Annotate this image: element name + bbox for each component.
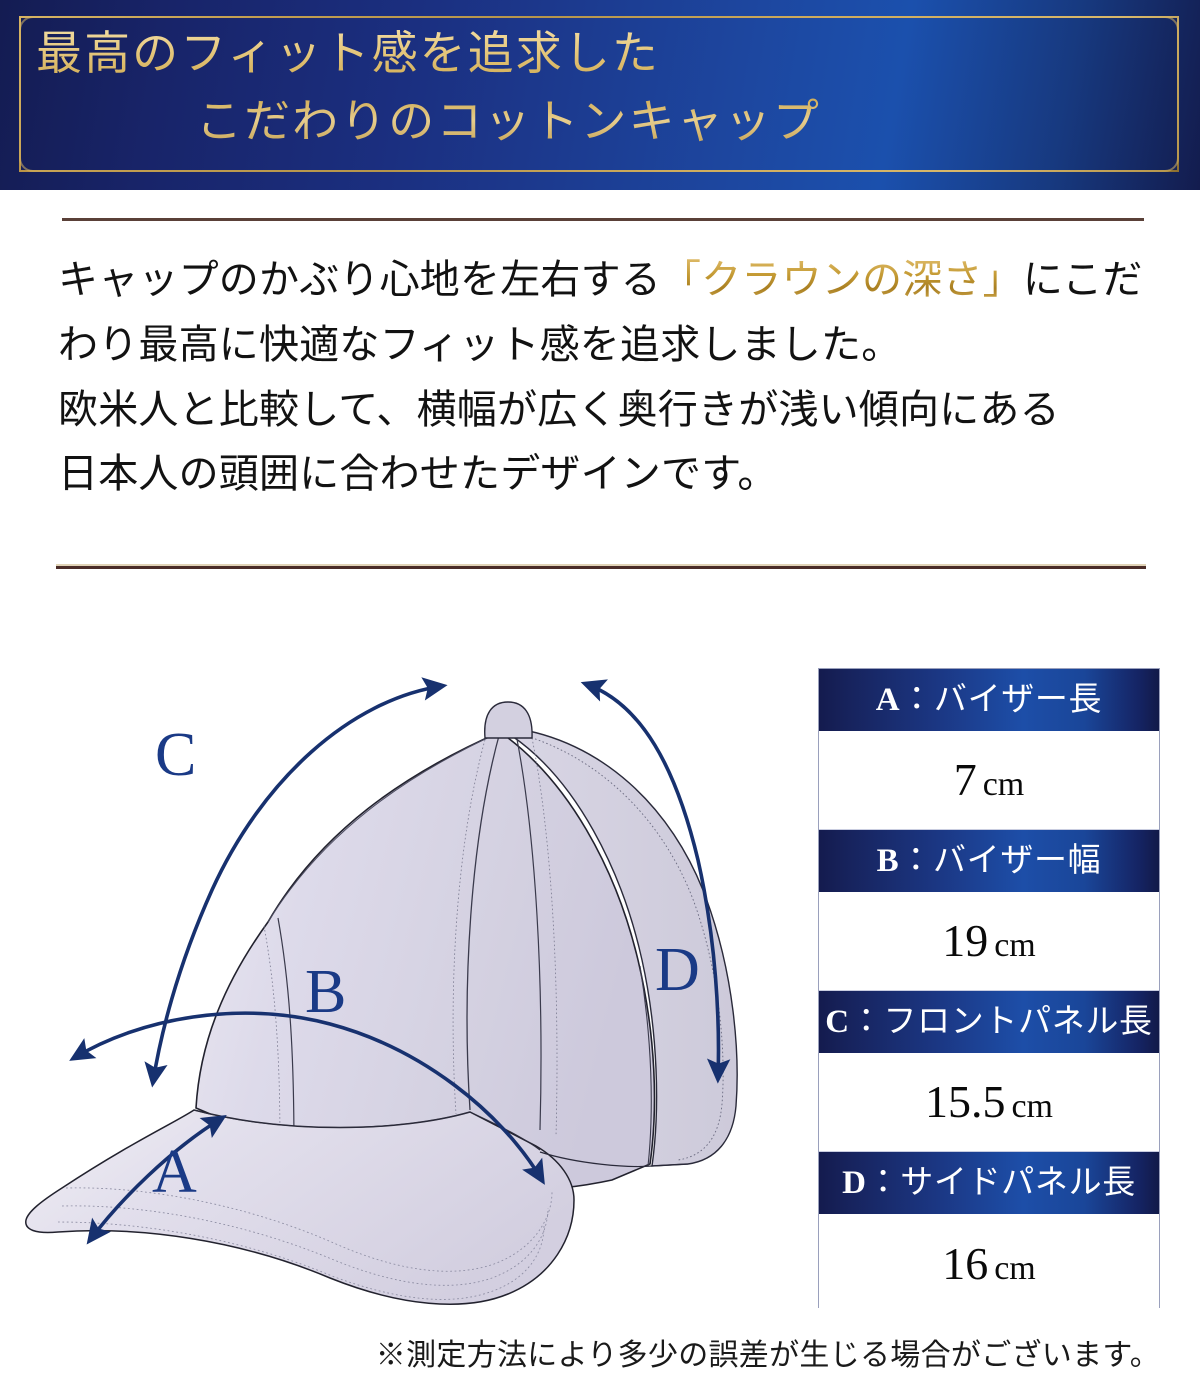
measurement-name-c: フロントパネル長 <box>883 1004 1152 1040</box>
measurement-value-b: 19cm <box>819 892 1159 991</box>
measurement-unit-a: cm <box>983 766 1025 803</box>
measurement-header-d: D：サイドパネル長 <box>819 1152 1159 1214</box>
diagram-label-b: B <box>305 958 346 1026</box>
measurement-name-a: バイザー長 <box>934 682 1102 718</box>
description-highlight: 「クラウンの深さ」 <box>661 257 1023 302</box>
measurement-header-c: C：フロントパネル長 <box>819 991 1159 1053</box>
measurement-unit-c: cm <box>1011 1088 1053 1125</box>
header-banner: 最高のフィット感を追求したこだわりのコットンキャップ <box>0 0 1200 190</box>
description-text: キャップのかぶり心地を左右する「クラウンの深さ」にこだわり最高に快適なフィット感… <box>58 248 1148 507</box>
measurement-key-a: A <box>876 682 901 718</box>
measurement-key-c: C <box>825 1004 850 1040</box>
banner-title-line1: 最高のフィット感を追求した <box>36 28 660 79</box>
measurement-value-d: 16cm <box>819 1214 1159 1313</box>
measurement-key-b: B <box>877 843 900 879</box>
cap-diagram: C B D A <box>0 640 820 1330</box>
measurement-table: A：バイザー長 7cm B：バイザー幅 19cm C：フロントパネル長 15.5… <box>818 668 1160 1308</box>
measurement-number-d: 16 <box>942 1238 988 1289</box>
footnote: ※測定方法により多少の誤差が生じる場合がございます。 <box>0 1330 1160 1374</box>
measurement-header-a: A：バイザー長 <box>819 669 1159 731</box>
measurement-name-b: バイザー幅 <box>933 843 1101 879</box>
measurement-number-c: 15.5 <box>925 1076 1006 1127</box>
measurement-value-c: 15.5cm <box>819 1053 1159 1152</box>
banner-title-line2: こだわりのコットンキャップ <box>36 88 1160 156</box>
diagram-label-d: D <box>655 936 700 1004</box>
measurement-number-b: 19 <box>942 915 988 966</box>
measurement-name-d: サイドパネル長 <box>900 1165 1136 1201</box>
measurement-key-d: D <box>842 1165 867 1201</box>
measurement-header-b: B：バイザー幅 <box>819 830 1159 892</box>
divider-bottom <box>56 566 1146 569</box>
banner-title: 最高のフィット感を追求したこだわりのコットンキャップ <box>0 20 1160 156</box>
measurement-sep-c: ： <box>850 1004 884 1040</box>
measurement-unit-b: cm <box>994 927 1036 964</box>
measurement-number-a: 7 <box>954 754 977 805</box>
measurement-sep-a: ： <box>900 682 934 718</box>
measurement-sep-d: ： <box>867 1165 901 1201</box>
diagram-label-c: C <box>155 721 196 789</box>
measurement-sep-b: ： <box>899 843 933 879</box>
measurement-unit-d: cm <box>994 1250 1036 1287</box>
measurement-value-a: 7cm <box>819 731 1159 830</box>
cap-top-button <box>485 702 532 738</box>
divider-top <box>62 218 1144 221</box>
description-part1: キャップのかぶり心地を左右する <box>58 257 661 302</box>
diagram-label-a: A <box>152 1138 197 1206</box>
cap-visor <box>26 1110 574 1304</box>
